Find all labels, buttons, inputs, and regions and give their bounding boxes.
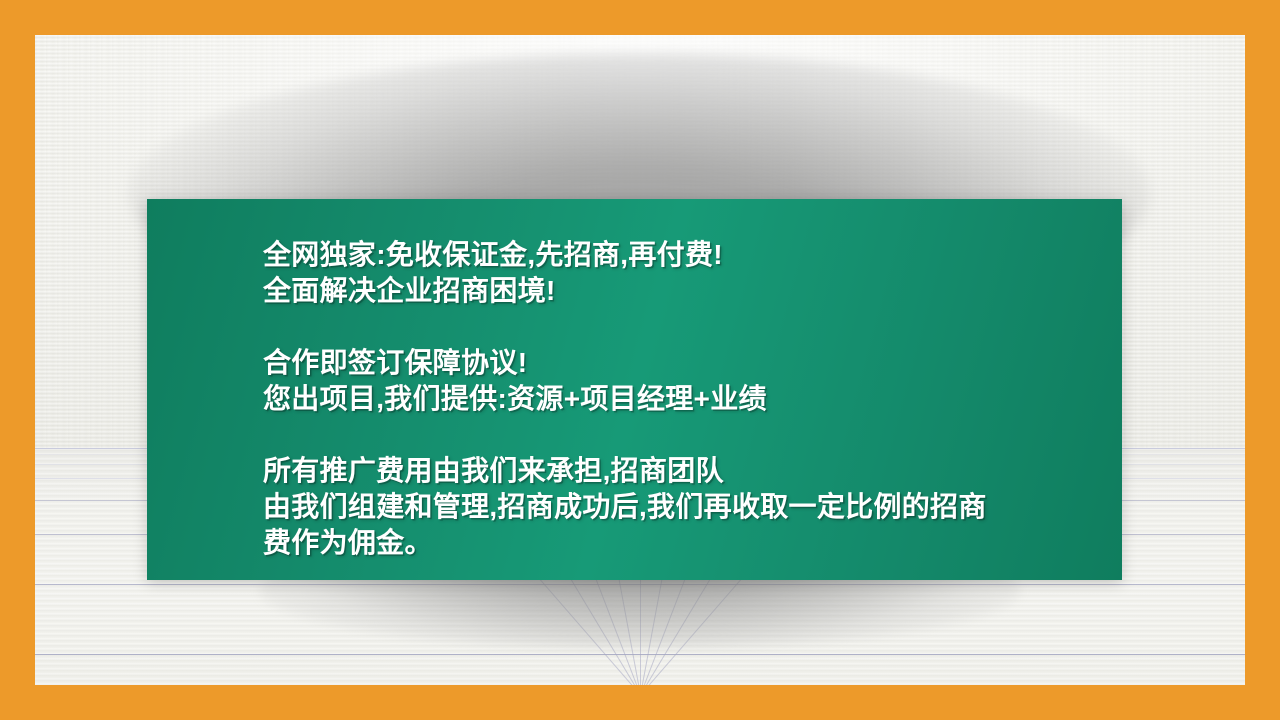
message-panel: 全网独家:免收保证金,先招商,再付费! 全面解决企业招商困境! 合作即签订保障协… xyxy=(147,199,1122,580)
slide-canvas: 全网独家:免收保证金,先招商,再付费! 全面解决企业招商困境! 合作即签订保障协… xyxy=(0,0,1280,720)
guarantee-block: 合作即签订保障协议! 您出项目,我们提供:资源+项目经理+业绩 xyxy=(263,345,1122,417)
guarantee-line-2: 您出项目,我们提供:资源+项目经理+业绩 xyxy=(263,381,1122,417)
terms-line-2: 由我们组建和管理,招商成功后,我们再收取一定比例的招商 xyxy=(263,489,1122,525)
block-spacer-1 xyxy=(263,309,1122,345)
terms-line-1: 所有推广费用由我们来承担,招商团队 xyxy=(263,453,1122,489)
headline-block: 全网独家:免收保证金,先招商,再付费! 全面解决企业招商困境! xyxy=(263,237,1122,309)
headline-line-1: 全网独家:免收保证金,先招商,再付费! xyxy=(263,237,1122,273)
block-spacer-2 xyxy=(263,417,1122,453)
room-stage: 全网独家:免收保证金,先招商,再付费! 全面解决企业招商困境! 合作即签订保障协… xyxy=(35,35,1245,685)
terms-line-3: 费作为佣金。 xyxy=(263,525,1122,561)
terms-block: 所有推广费用由我们来承担,招商团队 由我们组建和管理,招商成功后,我们再收取一定… xyxy=(263,453,1122,561)
guarantee-line-1: 合作即签订保障协议! xyxy=(263,345,1122,381)
headline-line-2: 全面解决企业招商困境! xyxy=(263,273,1122,309)
